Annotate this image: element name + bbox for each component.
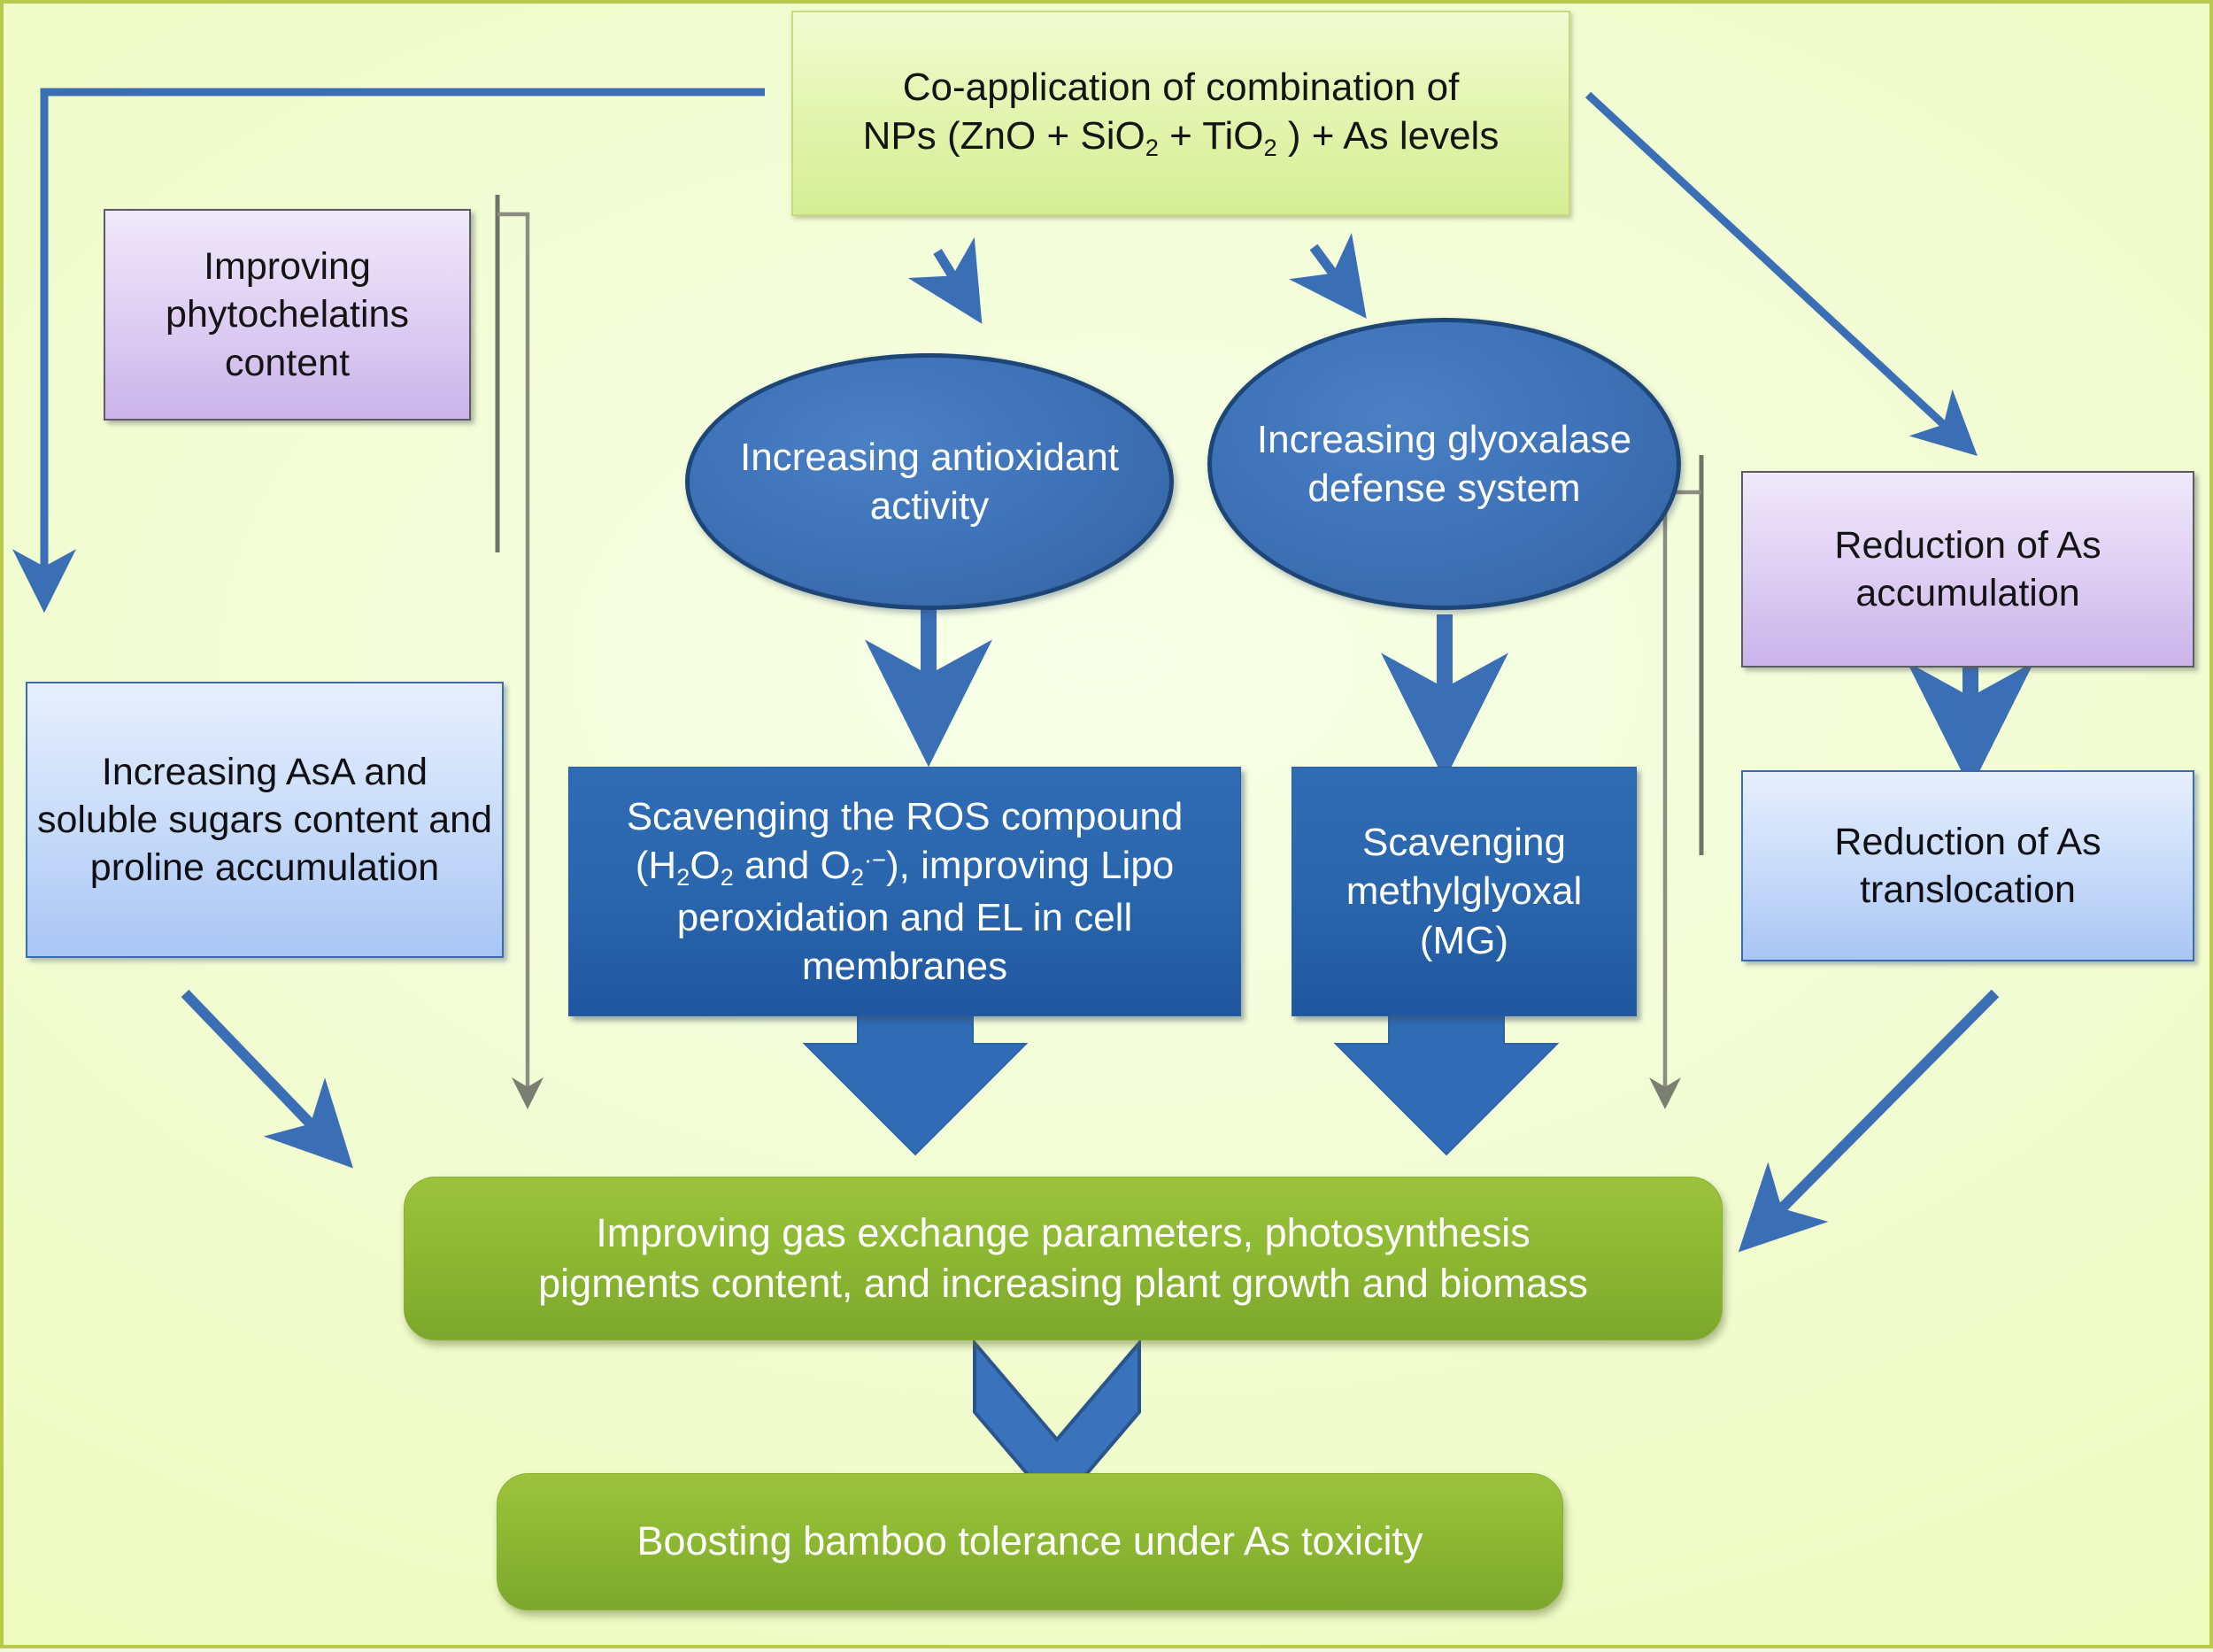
node-reduction-as-accumulation[interactable]: Reduction of As accumulation <box>1741 471 2194 668</box>
glyoxalase-label: Increasing glyoxalase defense system <box>1212 415 1677 513</box>
as-translocation-label: Reduction of As translocation <box>1743 818 2193 914</box>
asa-sugars-label: Increasing AsA and soluble sugars conten… <box>27 748 502 892</box>
as-accumulation-label: Reduction of As accumulation <box>1743 521 2193 617</box>
node-improving-phytochelatins[interactable]: Improving phytochelatins content <box>104 209 471 421</box>
node-conclusion-bamboo-tolerance[interactable]: Boosting bamboo tolerance under As toxic… <box>497 1473 1563 1610</box>
node-scavenging-ros[interactable]: Scavenging the ROS compound (H2O2 and O2… <box>568 767 1241 1016</box>
antioxidant-label: Increasing antioxidant activity <box>690 433 1169 531</box>
node-increasing-antioxidant-activity[interactable]: Increasing antioxidant activity <box>685 353 1174 610</box>
connector-ros-to-outcome <box>805 1013 1026 1154</box>
connector-source-to-glyoxalase <box>1314 247 1356 305</box>
node-increasing-asa-sugars[interactable]: Increasing AsA and soluble sugars conten… <box>26 682 504 958</box>
connector-mg-to-outcome <box>1336 1013 1557 1154</box>
connector-right-bracket <box>1665 455 1701 1101</box>
connector-translocation-to-outcome <box>1752 993 1995 1239</box>
connector-asa-to-outcome <box>185 993 340 1154</box>
diagram-canvas: Co-application of combination of NPs (Zn… <box>0 0 2213 1648</box>
source-label: Co-application of combination of NPs (Zn… <box>793 63 1569 164</box>
ros-label: Scavenging the ROS compound (H2O2 and O2… <box>569 792 1240 992</box>
node-reduction-as-translocation[interactable]: Reduction of As translocation <box>1741 770 2194 961</box>
conclusion-label: Boosting bamboo tolerance under As toxic… <box>497 1517 1562 1567</box>
connector-phytochelatins-bracket <box>497 195 528 1101</box>
mg-label: Scavenging methylglyoxal (MG) <box>1292 818 1636 965</box>
outcome-label: Improving gas exchange parameters, photo… <box>405 1208 1722 1308</box>
node-source-co-application[interactable]: Co-application of combination of NPs (Zn… <box>791 11 1570 216</box>
node-scavenging-methylglyoxal[interactable]: Scavenging methylglyoxal (MG) <box>1292 767 1637 1016</box>
phytochelatins-label: Improving phytochelatins content <box>105 243 469 387</box>
node-outcome-gas-exchange[interactable]: Improving gas exchange parameters, photo… <box>404 1177 1723 1340</box>
connector-source-to-antioxidant <box>937 251 973 309</box>
node-increasing-glyoxalase-defense[interactable]: Increasing glyoxalase defense system <box>1207 318 1681 610</box>
